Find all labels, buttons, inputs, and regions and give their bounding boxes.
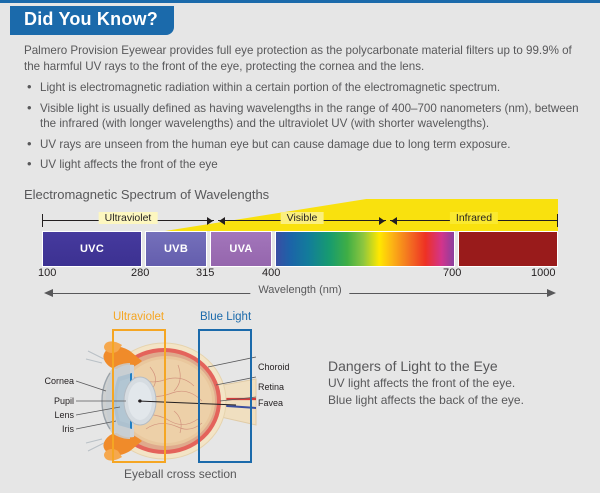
- dangers-line-1: UV light affects the front of the eye.: [328, 376, 578, 391]
- eye-diagram-caption: Eyeball cross section: [124, 467, 237, 481]
- eye-label-iris: Iris: [22, 424, 74, 434]
- dangers-heading: Dangers of Light to the Eye: [328, 358, 578, 374]
- dangers-line-2: Blue light affects the back of the eye.: [328, 393, 578, 408]
- list-item: UV light affects the front of the eye: [24, 157, 580, 173]
- band-uvb: UVB: [145, 231, 207, 267]
- spectrum-group-ranges: Ultraviolet Visible Infrared: [42, 213, 558, 229]
- eye-label-cornea: Cornea: [22, 376, 74, 386]
- intro-paragraph: Palmero Provision Eyewear provides full …: [24, 43, 580, 75]
- band-uvc: UVC: [42, 231, 142, 267]
- spectrum-scale: 100 280 315 400 700 1000: [0, 267, 600, 283]
- list-item: Visible light is usually defined as havi…: [24, 101, 580, 132]
- tick-label: 280: [131, 267, 149, 279]
- tick-label: 315: [196, 267, 214, 279]
- band-infrared: [458, 231, 558, 267]
- intro-block: Palmero Provision Eyewear provides full …: [24, 43, 580, 173]
- axis-label: Wavelength (nm): [250, 284, 349, 296]
- tick-label: 700: [443, 267, 461, 279]
- fact-list: Light is electromagnetic radiation withi…: [24, 80, 580, 173]
- spectrum-chart: Ultraviolet Visible Infrared UVC UVB UVA…: [0, 199, 600, 309]
- band-uva: UVA: [210, 231, 272, 267]
- tick-label: 400: [262, 267, 280, 279]
- range-label: Ultraviolet: [99, 212, 158, 224]
- tick-label: 1000: [531, 267, 555, 279]
- dangers-block: Dangers of Light to the Eye UV light aff…: [328, 358, 578, 408]
- eye-label-pupil: Pupil: [22, 396, 74, 406]
- tick-label: 100: [38, 267, 56, 279]
- blue-light-zone-label: Blue Light: [200, 311, 251, 323]
- eyeball-cross-section-illustration: [60, 329, 290, 465]
- range-label: Visible: [281, 212, 324, 224]
- list-item: UV rays are unseen from the human eye bu…: [24, 137, 580, 153]
- range-ultraviolet: Ultraviolet: [42, 213, 214, 229]
- wavelength-axis: Wavelength (nm): [44, 285, 556, 303]
- uv-zone-label: Ultraviolet: [113, 311, 164, 323]
- blue-light-zone-box: [198, 329, 252, 463]
- range-infrared: Infrared: [390, 213, 558, 229]
- eye-label-lens: Lens: [22, 410, 74, 420]
- band-visible: [275, 231, 455, 267]
- spectrum-bands: UVC UVB UVA: [42, 231, 558, 267]
- range-label: Infrared: [450, 212, 498, 224]
- poster-page: Did You Know? Palmero Provision Eyewear …: [0, 0, 600, 490]
- list-item: Light is electromagnetic radiation withi…: [24, 80, 580, 96]
- eye-label-choroid: Choroid: [258, 362, 290, 372]
- page-title: Did You Know?: [10, 6, 174, 35]
- eye-label-retina: Retina: [258, 382, 284, 392]
- uv-zone-box: [112, 329, 166, 463]
- eye-label-favea: Favea: [258, 398, 283, 408]
- range-visible: Visible: [218, 213, 386, 229]
